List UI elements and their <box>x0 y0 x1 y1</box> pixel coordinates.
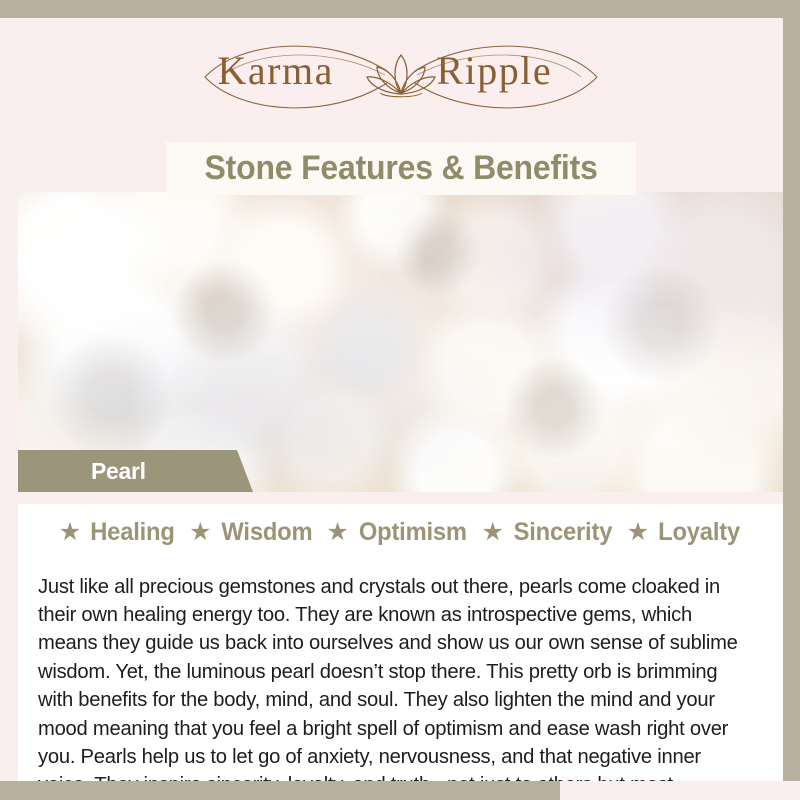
keyword-sincerity: ★ Sincerity <box>469 518 614 547</box>
keyword-loyalty: ★ Loyalty <box>615 518 743 547</box>
keyword-wisdom: ★ Wisdom <box>177 518 314 547</box>
bottom-accent-bar <box>0 781 612 800</box>
stone-name-banner: Pearl <box>18 450 253 492</box>
infographic-canvas: Karma Ripple Stone Features & Benefits P… <box>0 0 800 800</box>
keyword-label: Loyalty <box>658 518 740 547</box>
keyword-label: Wisdom <box>221 518 312 547</box>
star-icon: ★ <box>326 520 348 545</box>
page-title: Stone Features & Benefits <box>204 149 597 188</box>
keyword-optimism: ★ Optimism <box>314 518 469 547</box>
stone-photo <box>18 192 783 492</box>
keyword-list: ★ Healing ★ Wisdom ★ Optimism ★ Sincerit… <box>18 516 783 548</box>
bottom-pink-strip <box>560 781 800 800</box>
header-band: Karma Ripple <box>18 18 783 136</box>
keyword-label: Sincerity <box>513 518 612 547</box>
keyword-healing: ★ Healing <box>59 518 177 547</box>
keyword-label: Healing <box>90 518 174 547</box>
star-icon: ★ <box>189 520 211 545</box>
star-icon: ★ <box>59 520 81 545</box>
stone-name: Pearl <box>91 458 146 485</box>
photo-shadows <box>18 192 783 492</box>
description-paragraph: Just like all precious gemstones and cry… <box>38 573 755 800</box>
brand-name-left: Karma <box>218 48 334 94</box>
page-title-plate: Stone Features & Benefits <box>166 142 636 195</box>
brand-logo: Karma Ripple <box>18 18 783 136</box>
star-icon: ★ <box>627 520 649 545</box>
keyword-label: Optimism <box>359 518 467 547</box>
brand-name-right: Ripple <box>437 48 553 94</box>
star-icon: ★ <box>481 520 503 545</box>
